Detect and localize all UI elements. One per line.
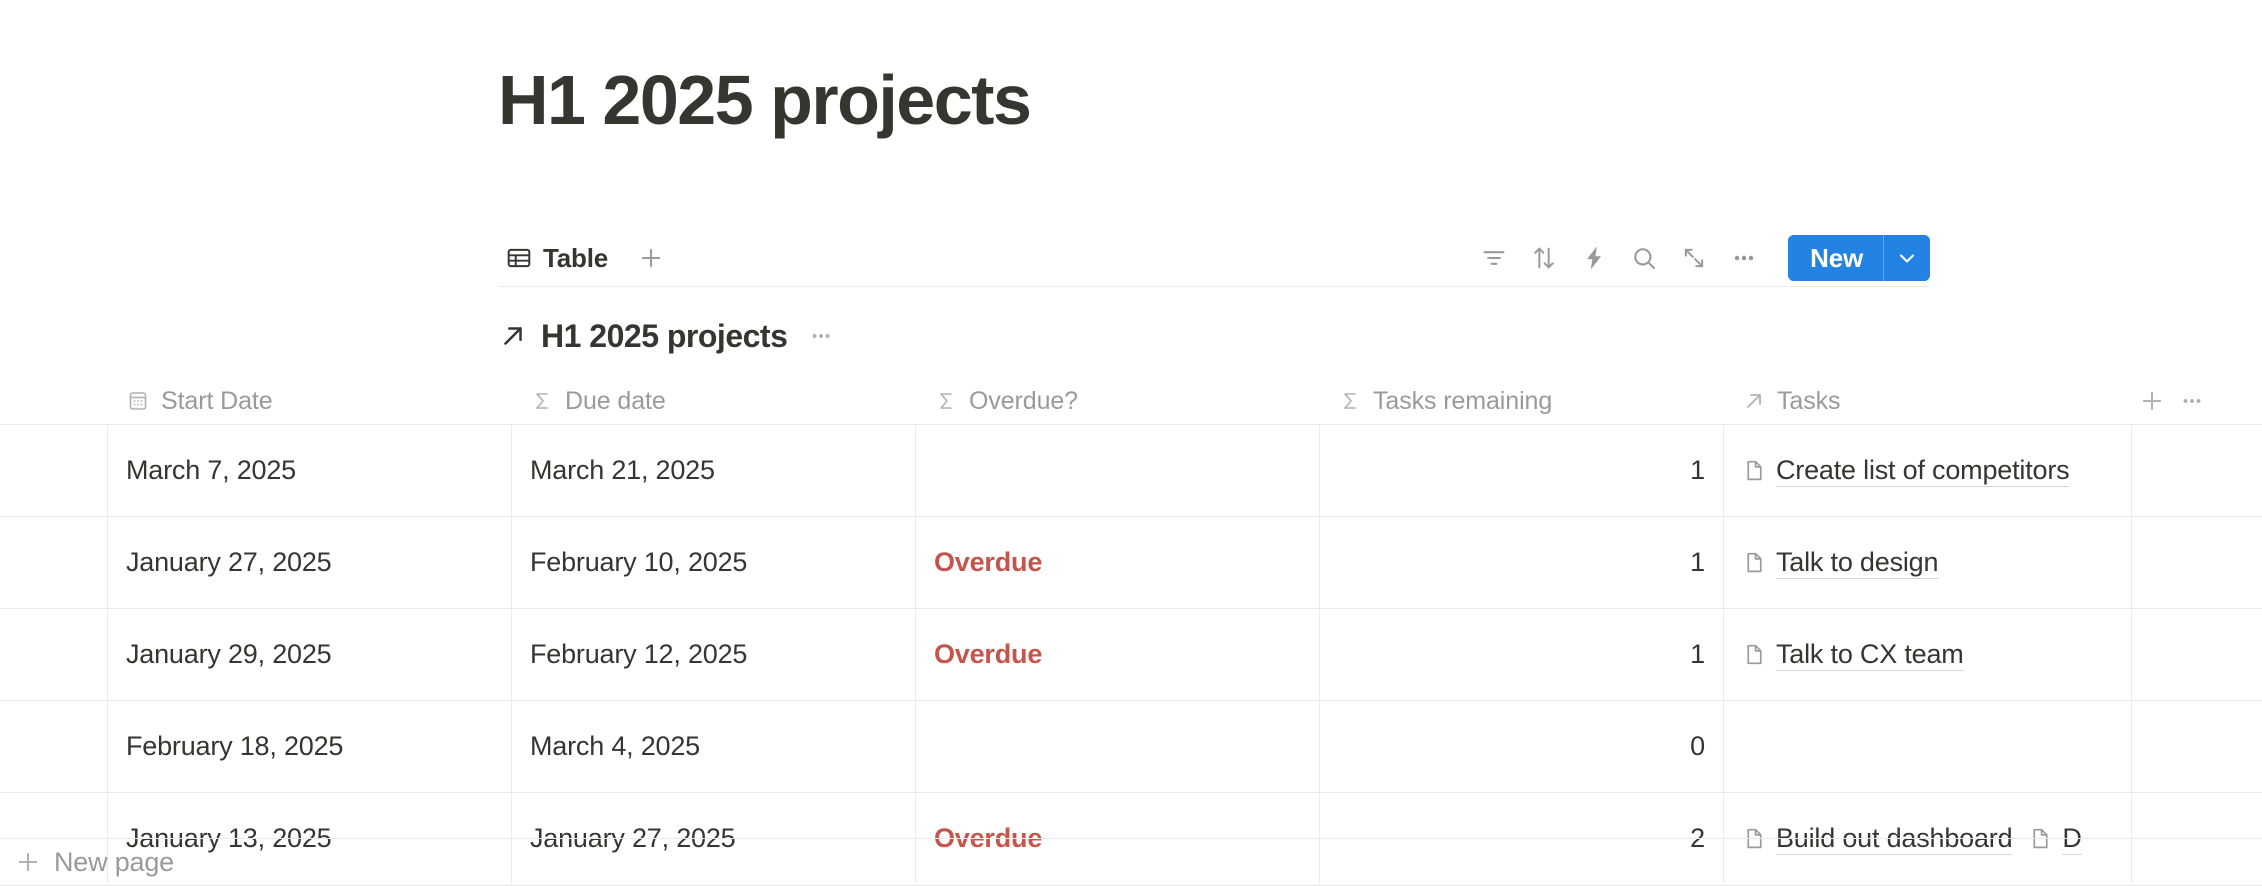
cell-trailing: [2132, 609, 2262, 700]
add-view-button[interactable]: [634, 241, 668, 275]
column-header-label: Start Date: [161, 387, 273, 416]
more-options-icon[interactable]: [1722, 236, 1766, 280]
toolbar-right-group: New: [1472, 235, 1930, 281]
column-header-label: Tasks remaining: [1373, 387, 1552, 416]
formula-sigma-icon: [1338, 389, 1362, 413]
cell-tasks[interactable]: Talk to CX team: [1724, 609, 2132, 700]
toolbar-divider: [498, 286, 1930, 287]
search-icon[interactable]: [1622, 236, 1666, 280]
table-grid-icon: [506, 245, 532, 271]
table-header-row: Start Date Due date Overdue?: [0, 378, 2262, 424]
cell-trailing: [2132, 517, 2262, 608]
cell-tasks-remaining[interactable]: 1: [1320, 517, 1724, 608]
view-toolbar: Table: [498, 230, 1930, 286]
page-document-icon: [1742, 458, 1767, 483]
database-table: Start Date Due date Overdue?: [0, 378, 2262, 884]
column-header-start-date[interactable]: Start Date: [108, 378, 512, 424]
tab-table-label: Table: [543, 243, 608, 274]
table-row[interactable]: January 27, 2025 February 10, 2025 Overd…: [0, 516, 2262, 608]
cell-due-date[interactable]: February 10, 2025: [512, 517, 916, 608]
cell-tasks[interactable]: Talk to design: [1724, 517, 2132, 608]
cell-tasks-remaining[interactable]: 1: [1320, 609, 1724, 700]
cell-trailing: [2132, 701, 2262, 792]
cell-start-date[interactable]: February 18, 2025: [108, 701, 512, 792]
cell-tasks-remaining[interactable]: 1: [1320, 425, 1724, 516]
column-header-tasks[interactable]: Tasks: [1724, 378, 2132, 424]
new-page-button[interactable]: New page: [0, 838, 2262, 886]
database-group-header: H1 2025 projects: [498, 312, 838, 360]
cell-start-date[interactable]: January 29, 2025: [108, 609, 512, 700]
formula-sigma-icon: [530, 389, 554, 413]
cell-due-date[interactable]: February 12, 2025: [512, 609, 916, 700]
new-page-label: New page: [54, 847, 174, 878]
column-options-icon[interactable]: [2172, 381, 2212, 421]
filter-icon[interactable]: [1472, 236, 1516, 280]
cell-tasks-remaining[interactable]: 0: [1320, 701, 1724, 792]
relation-item[interactable]: Create list of competitors: [1742, 455, 2069, 487]
column-header-label: Tasks: [1777, 387, 1840, 416]
new-button-label: New: [1810, 243, 1863, 274]
sort-arrows-icon[interactable]: [1522, 236, 1566, 280]
cell-overdue[interactable]: [916, 701, 1320, 792]
formula-sigma-icon: [934, 389, 958, 413]
cell-trailing: [2132, 425, 2262, 516]
new-dropdown-chevron-down-icon[interactable]: [1883, 235, 1930, 281]
cell-start-date[interactable]: January 27, 2025: [108, 517, 512, 608]
new-button-group: New: [1788, 235, 1930, 281]
add-column-button[interactable]: [2132, 381, 2172, 421]
row-gutter[interactable]: [0, 609, 108, 700]
cell-overdue[interactable]: Overdue: [916, 609, 1320, 700]
plus-icon: [14, 848, 42, 876]
relation-item[interactable]: Talk to design: [1742, 547, 1938, 579]
row-gutter-header: [0, 378, 108, 424]
toolbar-left-group: Table: [498, 239, 668, 278]
table-row[interactable]: February 18, 2025 March 4, 2025 0: [0, 700, 2262, 792]
cell-tasks[interactable]: Create list of competitors: [1724, 425, 2132, 516]
cell-tasks[interactable]: [1724, 701, 2132, 792]
relation-item-label: Talk to CX team: [1776, 639, 1964, 671]
table-row[interactable]: March 7, 2025 March 21, 2025 1 Create li…: [0, 424, 2262, 516]
page-document-icon: [1742, 550, 1767, 575]
cell-due-date[interactable]: March 4, 2025: [512, 701, 916, 792]
table-row[interactable]: January 29, 2025 February 12, 2025 Overd…: [0, 608, 2262, 700]
database-more-options-icon[interactable]: [804, 319, 838, 353]
page-title[interactable]: H1 2025 projects: [498, 60, 1030, 140]
notion-database-page: H1 2025 projects Table: [0, 0, 2262, 886]
new-button[interactable]: New: [1788, 235, 1883, 281]
cell-overdue[interactable]: [916, 425, 1320, 516]
column-header-due-date[interactable]: Due date: [512, 378, 916, 424]
cell-start-date[interactable]: March 7, 2025: [108, 425, 512, 516]
column-header-tasks-remaining[interactable]: Tasks remaining: [1320, 378, 1724, 424]
calendar-icon: [126, 389, 150, 413]
row-gutter[interactable]: [0, 425, 108, 516]
tab-table[interactable]: Table: [498, 239, 616, 278]
arrow-up-right-icon: [498, 321, 528, 351]
expand-diagonal-icon[interactable]: [1672, 236, 1716, 280]
relation-item[interactable]: Talk to CX team: [1742, 639, 1964, 671]
column-header-label: Overdue?: [969, 387, 1078, 416]
row-gutter[interactable]: [0, 517, 108, 608]
column-header-label: Due date: [565, 387, 666, 416]
database-title[interactable]: H1 2025 projects: [541, 318, 787, 355]
relation-item-label: Talk to design: [1776, 547, 1938, 579]
cell-overdue[interactable]: Overdue: [916, 517, 1320, 608]
column-header-actions: [2132, 378, 2262, 424]
relation-item-label: Create list of competitors: [1776, 455, 2069, 487]
cell-due-date[interactable]: March 21, 2025: [512, 425, 916, 516]
row-gutter[interactable]: [0, 701, 108, 792]
arrow-up-right-icon: [1742, 389, 1766, 413]
page-document-icon: [1742, 642, 1767, 667]
column-header-overdue[interactable]: Overdue?: [916, 378, 1320, 424]
lightning-bolt-icon[interactable]: [1572, 236, 1616, 280]
